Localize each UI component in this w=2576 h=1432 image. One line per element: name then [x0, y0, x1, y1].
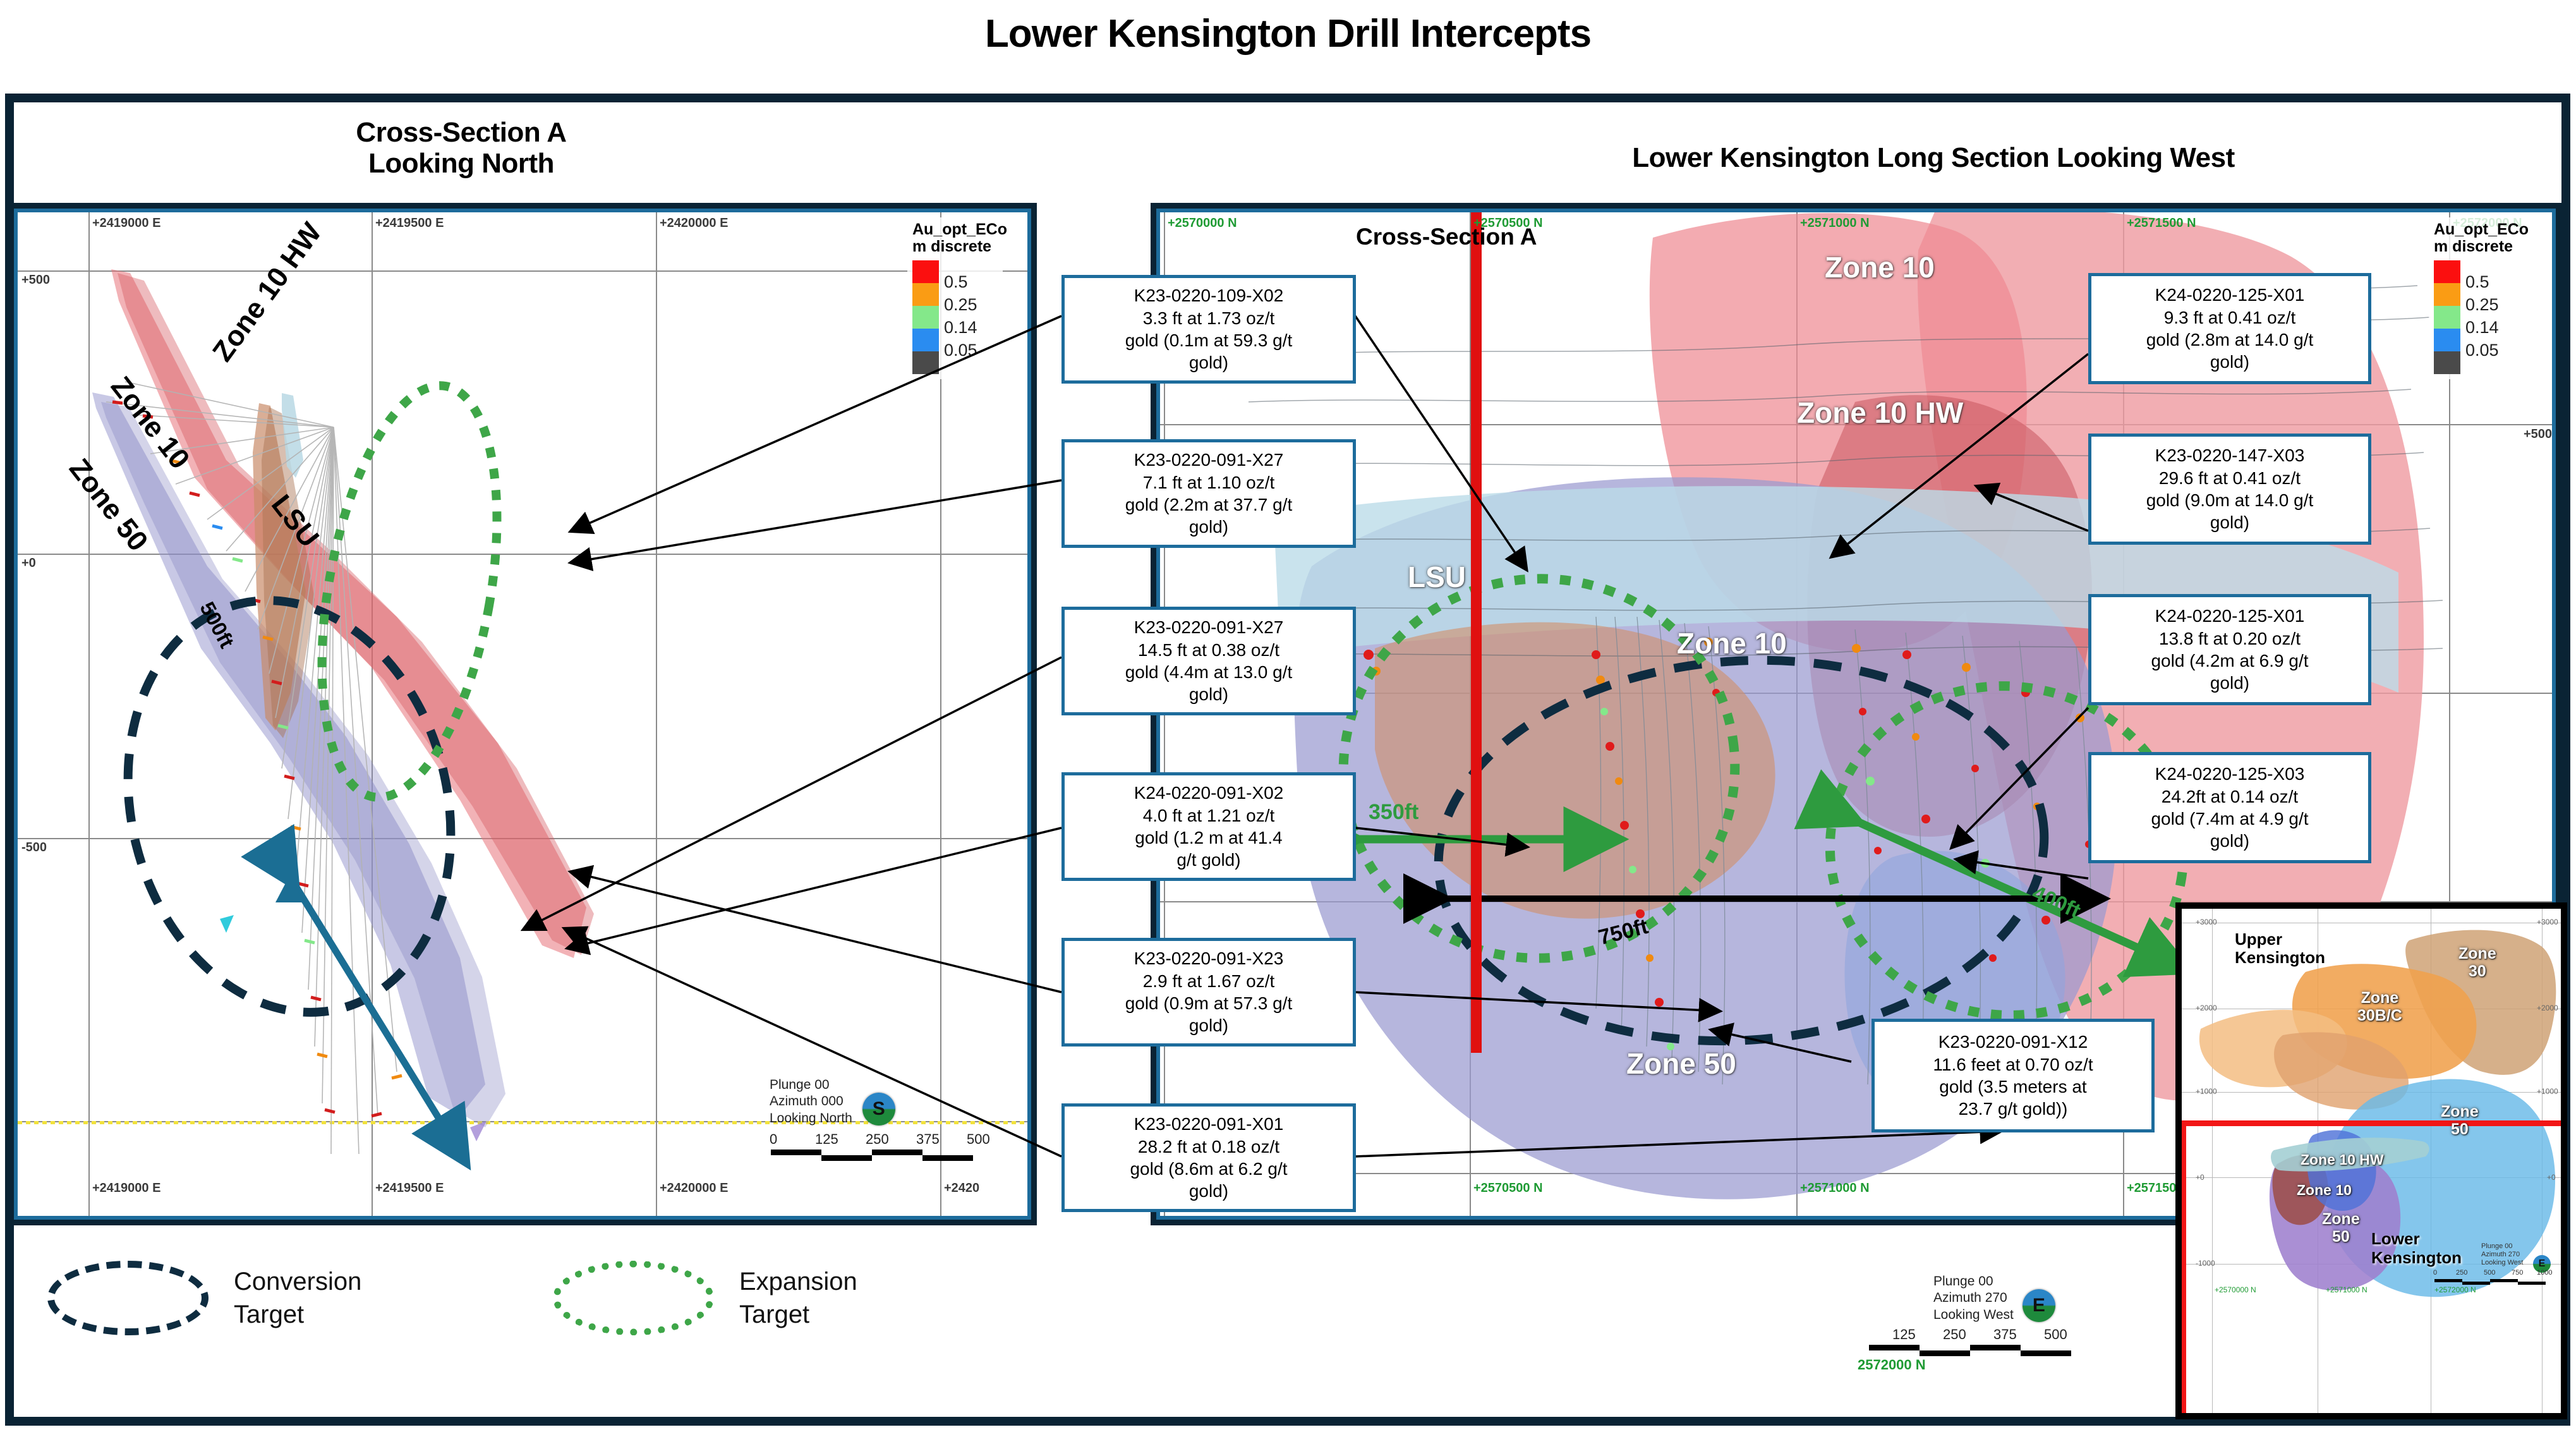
scale-segment	[771, 1150, 821, 1155]
callout-box[interactable]: K24-0220-091-X02 4.0 ft at 1.21 oz/t gol…	[1061, 772, 1356, 881]
left-panel-header: Cross-Section A Looking North	[234, 117, 689, 179]
left-panel-header-line2: Looking North	[234, 148, 689, 179]
inset-azimuth: Azimuth 270	[2481, 1251, 2523, 1259]
scale-tick: 250	[866, 1131, 889, 1148]
au-legend-swatch	[912, 283, 939, 306]
inset-axis-label-x: +2570000 N	[2215, 1285, 2256, 1294]
callout-hole-id: K23-0220-091-X27	[1125, 449, 1293, 471]
au-legend-swatch	[912, 351, 939, 374]
inset-axis-label-y: +2000	[2196, 1004, 2217, 1012]
inset-zone50u-l2: 50	[2451, 1120, 2469, 1138]
callout-hole-id: K24-0220-125-X01	[2146, 284, 2314, 306]
callout-line4: gold)	[1125, 1014, 1293, 1036]
callout-line3: gold (8.6m at 6.2 g/t	[1130, 1158, 1287, 1180]
callout-box[interactable]: K23-0220-109-X02 3.3 ft at 1.73 oz/t gol…	[1061, 275, 1356, 384]
callout-line4: gold)	[2151, 830, 2308, 852]
scale-segment	[2434, 1279, 2462, 1282]
page-title: Lower Kensington Drill Intercepts	[0, 11, 2576, 56]
inset-scale-widget: Plunge 00 Azimuth 270 Looking West	[2481, 1242, 2523, 1268]
callout-box[interactable]: K23-0220-091-X27 14.5 ft at 0.38 oz/t go…	[1061, 607, 1356, 715]
callout-line2: 3.3 ft at 1.73 oz/t	[1125, 307, 1293, 329]
inset-label-lower-kensington: Lower Kensington	[2371, 1230, 2462, 1267]
callout-line2: 4.0 ft at 1.21 oz/t	[1134, 804, 1284, 827]
inset-label-zone10hw: Zone 10 HW	[2301, 1151, 2384, 1168]
au-legend-swatch	[912, 260, 939, 283]
au-legend-row: 0.5	[912, 260, 998, 283]
distance-label-350ft: 350ft	[1369, 800, 1418, 825]
callout-box[interactable]: K23-0220-091-X27 7.1 ft at 1.10 oz/t gol…	[1061, 439, 1356, 548]
axis-label-x: +2570500 N	[1473, 1181, 1543, 1196]
scale-segment	[1970, 1345, 2021, 1350]
inset-label-zone30: Zone 30	[2458, 945, 2496, 980]
inset-axis-label-y: +0	[2196, 1173, 2204, 1182]
au-legend-left: Au_opt_ECo m discrete 0.5 0.25 0.14 0.05	[907, 217, 1003, 379]
au-legend-swatch	[2434, 351, 2460, 374]
legend-label-line1: Conversion	[234, 1265, 361, 1298]
callout-line3: gold (2.2m at 37.7 g/t	[1125, 494, 1293, 516]
inset-upper-line2: Kensington	[2235, 948, 2325, 967]
au-legend-swatch	[2434, 260, 2460, 283]
conversion-target-ellipse-icon	[47, 1261, 209, 1335]
inset-looking: Looking West	[2481, 1259, 2523, 1267]
callout-line3: gold (7.4m at 4.9 g/t	[2151, 808, 2308, 830]
callout-box[interactable]: K23-0220-091-X23 2.9 ft at 1.67 oz/t gol…	[1061, 938, 1356, 1047]
inset-scale-tick: 500	[2484, 1269, 2495, 1277]
cross-section-a-label: Cross-Section A	[1356, 224, 1537, 250]
callout-line2: 11.6 feet at 0.70 oz/t	[1933, 1053, 2093, 1076]
right-panel-header: Lower Kensington Long Section Looking We…	[1377, 142, 2489, 173]
callout-hole-id: K23-0220-091-X12	[1933, 1031, 2093, 1053]
au-legend-title-line2: m discrete	[2434, 238, 2513, 255]
callout-hole-id: K23-0220-091-X23	[1125, 947, 1293, 969]
au-legend-value: 0.05	[2465, 341, 2499, 360]
legend-expansion-target: Expansion Target	[553, 1261, 857, 1335]
inset-zone30-l2: 30	[2469, 962, 2486, 980]
legend-label-line2: Target	[739, 1298, 857, 1331]
axis-label-x: +2571000 N	[1800, 216, 1870, 231]
inset-zone30bc-l2: 30B/C	[2357, 1007, 2402, 1024]
callout-box[interactable]: K23-0220-091-X12 11.6 feet at 0.70 oz/t …	[1872, 1019, 2155, 1132]
callout-box[interactable]: K23-0220-091-X01 28.2 ft at 0.18 oz/t go…	[1061, 1103, 1356, 1212]
au-legend-value: 0.25	[944, 295, 977, 315]
scale-segment	[872, 1150, 922, 1155]
callout-line4: gold)	[1130, 1180, 1287, 1202]
inset-zone50l-l2: 50	[2332, 1228, 2350, 1246]
scale-tick: 375	[916, 1131, 940, 1148]
au-legend-title-line2: m discrete	[912, 238, 991, 255]
callout-line2: 29.6 ft at 0.41 oz/t	[2146, 467, 2314, 489]
inset-label-upper-kensington: Upper Kensington	[2235, 930, 2325, 967]
scale-tick: 375	[1993, 1326, 2017, 1344]
callout-line2: 28.2 ft at 0.18 oz/t	[1130, 1136, 1287, 1158]
plunge-label: Plunge 00	[1933, 1273, 2014, 1290]
zone-label-zone10-mid: Zone 10	[1677, 626, 1787, 660]
compass-icon: E	[2023, 1289, 2055, 1322]
inset-label-zone30bc: Zone 30B/C	[2357, 990, 2402, 1024]
inset-scale-tick: 1000	[2537, 1269, 2552, 1277]
inset-axis-label-y-right: +3000	[2537, 918, 2558, 926]
inset-axis-label-y-right: +0	[2547, 1173, 2556, 1182]
au-legend-swatch	[2434, 329, 2460, 351]
legend-label-line1: Expansion	[739, 1265, 857, 1298]
au-legend-title-line1: Au_opt_ECo	[2434, 221, 2529, 238]
cross-section-line	[1471, 212, 1482, 1053]
au-legend-swatch	[2434, 283, 2460, 306]
scale-tick: 0	[770, 1131, 777, 1148]
legend-label: Conversion Target	[234, 1265, 361, 1331]
scale-segment	[2021, 1350, 2071, 1356]
inset-scale-tick: 750	[2512, 1269, 2523, 1277]
callout-line4: g/t gold)	[1134, 849, 1284, 871]
left-orebody-shapes	[18, 212, 1031, 1220]
scale-segment	[922, 1155, 973, 1161]
axis-label-y: +500	[2524, 427, 2552, 442]
inset-lower-line1: Lower	[2371, 1229, 2420, 1248]
inset-lower-line2: Kensington	[2371, 1248, 2462, 1267]
scale-tick: 250	[1943, 1326, 1966, 1344]
callout-line4: 23.7 g/t gold))	[1933, 1098, 2093, 1120]
scale-tick: 500	[967, 1131, 990, 1148]
inset-axis-label-x: +2571000 N	[2326, 1285, 2367, 1294]
au-legend-value: 0.14	[944, 318, 977, 337]
callout-line2: 2.9 ft at 1.67 oz/t	[1125, 970, 1293, 992]
au-legend-value: 0.25	[2465, 295, 2499, 315]
looking-label: Looking North	[770, 1110, 852, 1127]
scale-tick: 500	[2044, 1326, 2067, 1344]
legend-label-line2: Target	[234, 1298, 361, 1331]
zone-label-zone50: Zone 50	[1626, 1047, 1736, 1081]
inset-axis-label-y: +1000	[2196, 1087, 2217, 1096]
scale-segment	[2462, 1282, 2490, 1285]
callout-line4: gold)	[1125, 683, 1293, 705]
au-legend-title-line1: Au_opt_ECo	[912, 221, 1007, 238]
au-legend-swatch	[912, 329, 939, 351]
inset-label-zone50-lower: Zone 50	[2322, 1211, 2360, 1246]
callout-line3: gold (1.2 m at 41.4	[1134, 827, 1284, 849]
au-legend-row: 0.5	[2434, 260, 2519, 283]
callout-hole-id: K23-0220-147-X03	[2146, 444, 2314, 466]
left-scale-widget: Plunge 00 Azimuth 000 Looking North S 0 …	[770, 1077, 1022, 1157]
callout-line2: 13.8 ft at 0.20 oz/t	[2151, 628, 2308, 650]
scale-tick: 125	[1892, 1326, 1916, 1344]
inset-label-zone50-upper: Zone 50	[2441, 1103, 2479, 1138]
callout-box[interactable]: K24-0220-125-X01 9.3 ft at 0.41 oz/t gol…	[2088, 273, 2371, 384]
callout-line3: gold (4.4m at 13.0 g/t	[1125, 661, 1293, 683]
axis-label-x: 2572000 N	[1858, 1356, 2123, 1374]
inset-upper-line1: Upper	[2235, 930, 2282, 949]
callout-line3: gold (3.5 meters at	[1933, 1076, 2093, 1098]
callout-line2: 24.2ft at 0.14 oz/t	[2151, 786, 2308, 808]
inset-axis-label-y: -1000	[2196, 1259, 2215, 1268]
callout-line3: gold (2.8m at 14.0 g/t	[2146, 329, 2314, 351]
scale-segment	[2490, 1279, 2518, 1282]
inset-scale-bar	[2434, 1279, 2546, 1284]
scale-segment	[821, 1155, 872, 1161]
axis-label-x: +2570000 N	[1168, 216, 1237, 231]
inset-zone30bc-l1: Zone	[2361, 989, 2399, 1007]
scale-segment	[2518, 1282, 2546, 1285]
inset-plunge: Plunge 00	[2481, 1242, 2523, 1251]
callout-line3: gold (9.0m at 14.0 g/t	[2146, 489, 2314, 511]
callout-box[interactable]: K24-0220-125-X01 13.8 ft at 0.20 oz/t go…	[2088, 594, 2371, 705]
callout-line2: 9.3 ft at 0.41 oz/t	[2146, 306, 2314, 329]
scale-tick: 125	[815, 1131, 838, 1148]
right-scale-widget: Plunge 00 Azimuth 270 Looking West E 125…	[1858, 1273, 2123, 1373]
legend-label: Expansion Target	[739, 1265, 857, 1331]
inset-scale-tick: 0	[2433, 1269, 2437, 1277]
zone-label-zone10hw: Zone 10 HW	[1797, 396, 1963, 430]
looking-label: Looking West	[1933, 1307, 2014, 1323]
inset-zone50u-l1: Zone	[2441, 1103, 2479, 1120]
inset-axis-label-x: +2572000 N	[2434, 1285, 2476, 1294]
inset-zone30-l1: Zone	[2458, 945, 2496, 962]
au-legend-swatch	[2434, 306, 2460, 329]
au-legend-right: Au_opt_ECo m discrete 0.5 0.25 0.14 0.05	[2429, 217, 2524, 379]
zone-label-zone10-top: Zone 10	[1825, 250, 1935, 284]
azimuth-label: Azimuth 000	[770, 1093, 852, 1110]
left-panel-header-line1: Cross-Section A	[234, 117, 689, 148]
callout-line3: gold (0.1m at 59.3 g/t	[1125, 329, 1293, 351]
callout-line4: gold)	[1125, 351, 1293, 373]
callout-hole-id: K23-0220-091-X01	[1130, 1113, 1287, 1135]
scale-segment	[1920, 1350, 1970, 1356]
callout-hole-id: K23-0220-091-X27	[1125, 616, 1293, 638]
callout-line3: gold (4.2m at 6.9 g/t	[2151, 650, 2308, 672]
callout-line4: gold)	[2151, 672, 2308, 694]
callout-hole-id: K24-0220-125-X01	[2151, 605, 2308, 627]
inset-location-map[interactable]: Upper Kensington Zone 30 Zone 30B/C Zone…	[2175, 902, 2567, 1419]
callout-line2: 7.1 ft at 1.10 oz/t	[1125, 471, 1293, 494]
inset-label-zone10: Zone 10	[2297, 1182, 2352, 1199]
callout-line2: 14.5 ft at 0.38 oz/t	[1125, 639, 1293, 661]
plunge-label: Plunge 00	[770, 1077, 852, 1093]
azimuth-label: Azimuth 270	[1933, 1290, 2014, 1306]
inset-axis-label-y-right: +1000	[2537, 1087, 2558, 1096]
expansion-target-ellipse-icon	[553, 1261, 714, 1335]
callout-hole-id: K23-0220-109-X02	[1125, 284, 1293, 306]
legend-conversion-target: Conversion Target	[47, 1261, 361, 1335]
callout-hole-id: K24-0220-091-X02	[1134, 782, 1284, 804]
callout-box[interactable]: K24-0220-125-X03 24.2ft at 0.14 oz/t gol…	[2088, 752, 2371, 863]
callout-line4: gold)	[2146, 511, 2314, 533]
au-legend-value: 0.5	[944, 272, 968, 292]
au-legend-value: 0.5	[2465, 272, 2489, 292]
callout-line3: gold (0.9m at 57.3 g/t	[1125, 992, 1293, 1014]
au-legend-swatch	[912, 306, 939, 329]
callout-hole-id: K24-0220-125-X03	[2151, 763, 2308, 785]
callout-line4: gold)	[2146, 351, 2314, 373]
scale-segment	[1869, 1345, 1920, 1350]
axis-label-x: +2571000 N	[1800, 1181, 1870, 1196]
inset-zone50l-l1: Zone	[2322, 1210, 2360, 1228]
au-legend-value: 0.14	[2465, 318, 2499, 337]
axis-label-x: +2571500 N	[2127, 216, 2196, 231]
inset-axis-label-y-right: +2000	[2537, 1004, 2558, 1012]
inset-scale-tick: 250	[2456, 1269, 2467, 1277]
inset-axis-label-y: +3000	[2196, 918, 2217, 926]
callout-box[interactable]: K23-0220-147-X03 29.6 ft at 0.41 oz/t go…	[2088, 434, 2371, 545]
cross-section-a-panel[interactable]: +2419000 E +2419500 E +2420000 E +241900…	[14, 209, 1031, 1220]
compass-icon: S	[862, 1093, 895, 1126]
callout-line4: gold)	[1125, 516, 1293, 538]
zone-label-lsu: LSU	[1408, 560, 1466, 594]
au-legend-value: 0.05	[944, 341, 977, 360]
